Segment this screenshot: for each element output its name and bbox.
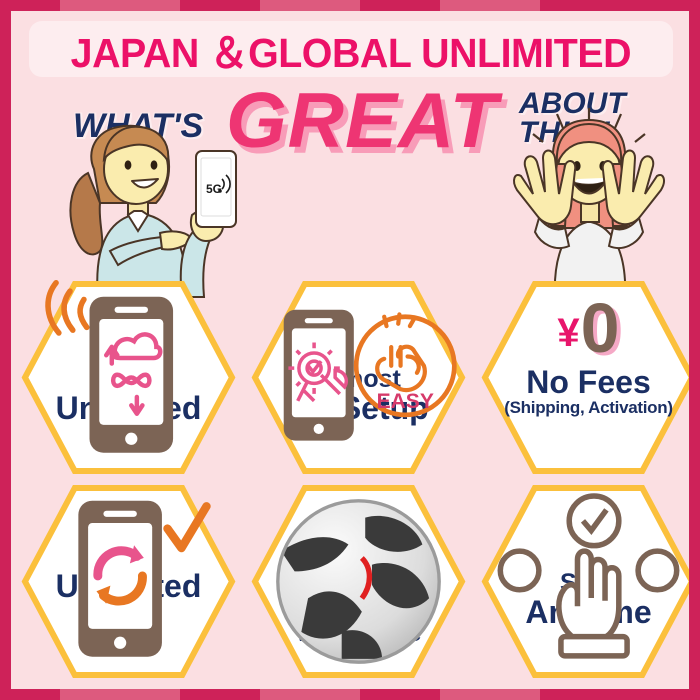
regions-badge: 191 Regions (320, 492, 397, 564)
frame-stripe-5 (440, 0, 540, 11)
feature-card-unlimited-use[interactable]: Unlimited Use (21, 484, 236, 679)
frame-stripe-6 (540, 689, 700, 700)
frame-stripe-5 (440, 689, 540, 700)
feature-hex-grid: Data Unlimited (11, 11, 689, 689)
feature-card-almost-no-setup[interactable]: EASY Almost No Setup (251, 280, 466, 475)
frame-stripe-4 (360, 689, 440, 700)
frame-stripe-0 (0, 689, 60, 700)
frame-stripe-2 (180, 0, 260, 11)
frame-rail-left (0, 0, 11, 700)
label-line2: No Fees (504, 366, 672, 399)
frame-stripe-2 (180, 689, 260, 700)
feature-card-available-worldwide[interactable]: 191 Regions Available in Japan Worldwide (251, 484, 466, 679)
feature-card-no-fees[interactable]: ¥ 0 No Fees (Shipping, Activation) (481, 280, 689, 475)
yen-symbol: ¥ (557, 313, 579, 353)
frame-stripe-band-top (0, 0, 700, 11)
frame-stripe-0 (0, 0, 60, 11)
frame-stripe-4 (360, 0, 440, 11)
frame-stripe-3 (260, 0, 360, 11)
label-sub: (Shipping, Activation) (504, 399, 672, 417)
zero-amount: 0 (581, 293, 620, 363)
promo-poster: JAPAN ＆GLOBAL UNLIMITED WHAT'S GREAT ABO… (0, 0, 700, 700)
feature-card-start-anytime[interactable]: Start Anytime (481, 484, 689, 679)
yen-zero-icon: ¥ 0 (557, 292, 619, 364)
frame-stripe-6 (540, 0, 700, 11)
easy-badge-text: EASY (377, 390, 434, 413)
feature-card-data-unlimited[interactable]: Data Unlimited (21, 280, 236, 475)
frame-rail-right (689, 0, 700, 700)
frame-stripe-1 (60, 0, 180, 11)
frame-stripe-3 (260, 689, 360, 700)
frame-stripe-1 (60, 689, 180, 700)
globe-icon (251, 484, 466, 679)
frame-stripe-band-bottom (0, 689, 700, 700)
poster-page: JAPAN ＆GLOBAL UNLIMITED WHAT'S GREAT ABO… (11, 11, 689, 689)
feature-label-no-fees: No Fees (Shipping, Activation) (504, 366, 672, 417)
